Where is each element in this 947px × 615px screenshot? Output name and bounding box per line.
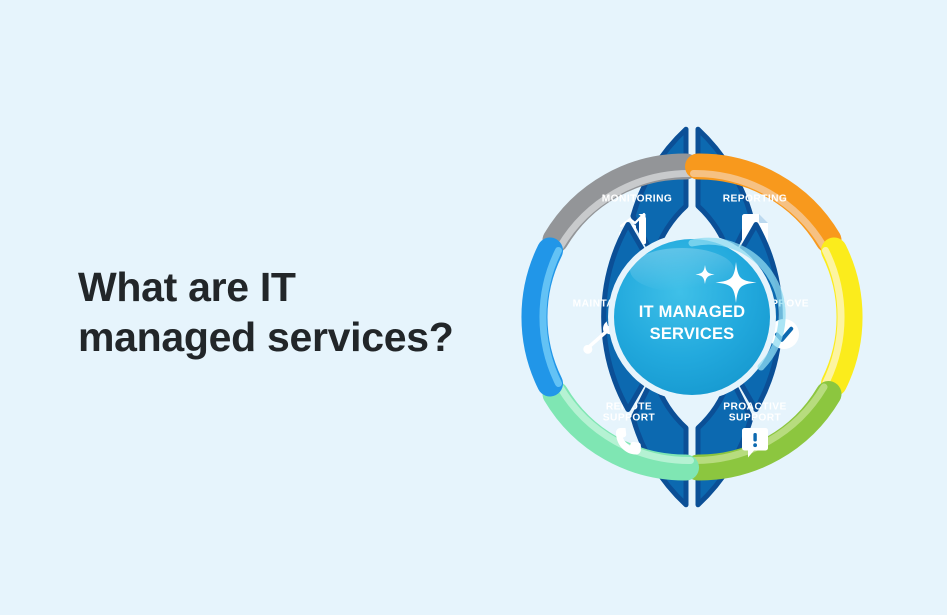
page-title-line-1: What are IT (78, 262, 478, 312)
page-root: What are IT managed services? (0, 0, 947, 615)
page-title: What are IT managed services? (78, 262, 478, 362)
center-label-line-2: SERVICES (650, 325, 735, 343)
segment-label-monitoring: MONITORING (602, 194, 673, 205)
it-managed-services-wheel: MONITORING REPORTING (497, 122, 887, 512)
segment-label-proactive-support: PROACTIVE (723, 402, 786, 413)
wheel-svg: MONITORING REPORTING (497, 122, 887, 512)
center-gloss-top (630, 248, 734, 292)
segment-label-remote-support-line2: SUPPORT (603, 413, 656, 424)
segment-label-reporting: REPORTING (723, 194, 788, 205)
segment-label-proactive-support-line2: SUPPORT (729, 413, 782, 424)
page-title-line-2: managed services? (78, 312, 478, 362)
center-label-line-1: IT MANAGED (639, 303, 746, 321)
